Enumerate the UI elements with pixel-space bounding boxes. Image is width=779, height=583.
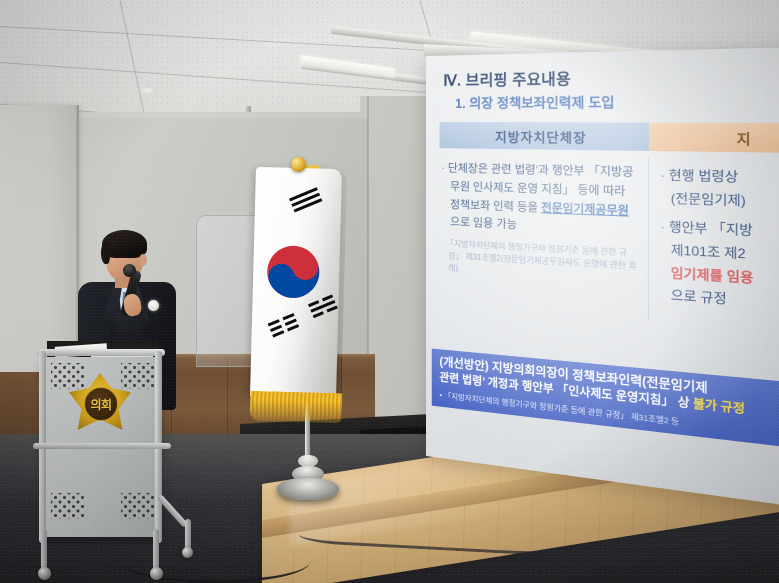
footnote-text: 「지방자치단체의 행정기구와 정원기준 등에 관한 규정」 제31조엘2(전문임… bbox=[446, 239, 637, 273]
wall-seam bbox=[367, 96, 369, 396]
banner-highlight-1: 불가 bbox=[693, 398, 717, 414]
briefing-room-scene: Ⅳ. 브리핑 주요내용 1. 의장 정책보좌인력제 도입 지방자치단체장 지 ·… bbox=[0, 0, 779, 583]
south-korean-flag bbox=[250, 167, 342, 399]
bullet-line: 현행 법령상 bbox=[669, 168, 738, 185]
emblem-label: 의회 bbox=[90, 396, 111, 413]
comparison-table: 지방자치단체장 지 · 단체장은 관련 법령’과 행안부 「지방공무원 인사제도… bbox=[439, 122, 779, 333]
ear bbox=[139, 254, 147, 266]
trigram-gon-icon bbox=[268, 313, 301, 340]
bullet-dot-icon: · bbox=[441, 162, 445, 174]
podium-perforation-pattern bbox=[51, 493, 85, 519]
table-header-row: 지방자치단체장 지 bbox=[439, 122, 779, 153]
council-emblem: 의회 bbox=[69, 373, 131, 431]
improvement-banner: (개선방안) 지방의회의장이 정책보좌인력(전문임기제 관련 법령’ 개정과 행… bbox=[432, 349, 779, 451]
table-header-right: 지 bbox=[649, 123, 779, 153]
bullet-item: · 단체장은 관련 법령’과 행안부 「지방공무원 인사제도 운영 지침」 등에… bbox=[441, 160, 638, 241]
banner-highlight-2: 규정 bbox=[717, 400, 745, 416]
podium-perforation-pattern bbox=[121, 493, 155, 519]
bullet-line: 행안부 「지방 bbox=[669, 220, 753, 239]
podium-caster-wheel bbox=[38, 567, 51, 580]
taeguk-symbol-icon bbox=[259, 238, 327, 306]
footnote-dot-icon: · bbox=[441, 239, 444, 248]
bullet-line: (전문임기제) bbox=[671, 190, 746, 208]
table-cell-right: · 현행 법령상 (전문임기제) · 행안부 「지방 제101조 제2 임기제를… bbox=[649, 157, 779, 333]
speaker-podium: 의회 bbox=[33, 343, 173, 548]
flag-stand-base bbox=[277, 478, 339, 500]
projection-screen-area: Ⅳ. 브리핑 주요내용 1. 의장 정책보좌인력제 도입 지방자치단체장 지 ·… bbox=[426, 56, 779, 466]
bullet-item: · 현행 법령상 (전문임기제) bbox=[660, 164, 779, 214]
flag-gold-fringe bbox=[250, 391, 343, 423]
bullet-line: 으로 규정 bbox=[671, 288, 727, 307]
podium-caster-wheel bbox=[182, 547, 193, 558]
slide-title: Ⅳ. 브리핑 주요내용 bbox=[443, 63, 779, 91]
bullet-dot-icon: · bbox=[660, 168, 665, 183]
podium-leg bbox=[153, 529, 159, 571]
emblem-center-disc: 의회 bbox=[84, 387, 118, 421]
trigram-gam-icon bbox=[308, 294, 339, 320]
bullet-line: 제101조 제2 bbox=[671, 242, 746, 261]
podium-leg bbox=[41, 529, 47, 571]
podium-shelf-rail bbox=[33, 443, 171, 449]
trigram-geon-icon bbox=[289, 187, 323, 215]
podium-top-rail bbox=[37, 349, 165, 356]
bullet-text-underlined: 전문임기제공무원 bbox=[541, 201, 629, 217]
table-header-left: 지방자치단체장 bbox=[439, 122, 649, 151]
bullet-dot-icon: · bbox=[660, 219, 665, 235]
bullet-text-suffix: 으로 임용 가능 bbox=[450, 216, 517, 231]
slide-subtitle: 1. 의장 정책보좌인력제 도입 bbox=[455, 89, 779, 112]
bullet-item: · 행안부 「지방 제101조 제2 임기제를 임용 으로 규정 bbox=[660, 216, 779, 317]
projection-screen: Ⅳ. 브리핑 주요내용 1. 의장 정책보좌인력제 도입 지방자치단체장 지 ·… bbox=[426, 46, 779, 510]
podium-caster-wheel bbox=[150, 567, 163, 580]
hair-sideburn bbox=[101, 242, 110, 264]
bullet-line-highlight: 임기제를 임용 bbox=[671, 265, 754, 285]
table-body: · 단체장은 관련 법령’과 행안부 「지방공무원 인사제도 운영 지침」 등에… bbox=[439, 154, 779, 333]
footnote-left: · 「지방자치단체의 행정기구와 정원기준 등에 관한 규정」 제31조엘2(전… bbox=[441, 238, 638, 287]
flag-finial-ornament bbox=[291, 157, 306, 172]
presentation-slide: Ⅳ. 브리핑 주요내용 1. 의장 정책보좌인력제 도입 지방자치단체장 지 ·… bbox=[426, 46, 779, 510]
smoke-detector-icon bbox=[140, 88, 157, 95]
boutonniere-flower bbox=[148, 300, 159, 311]
table-cell-left: · 단체장은 관련 법령’과 행안부 「지방공무원 인사제도 운영 지침」 등에… bbox=[439, 154, 649, 321]
